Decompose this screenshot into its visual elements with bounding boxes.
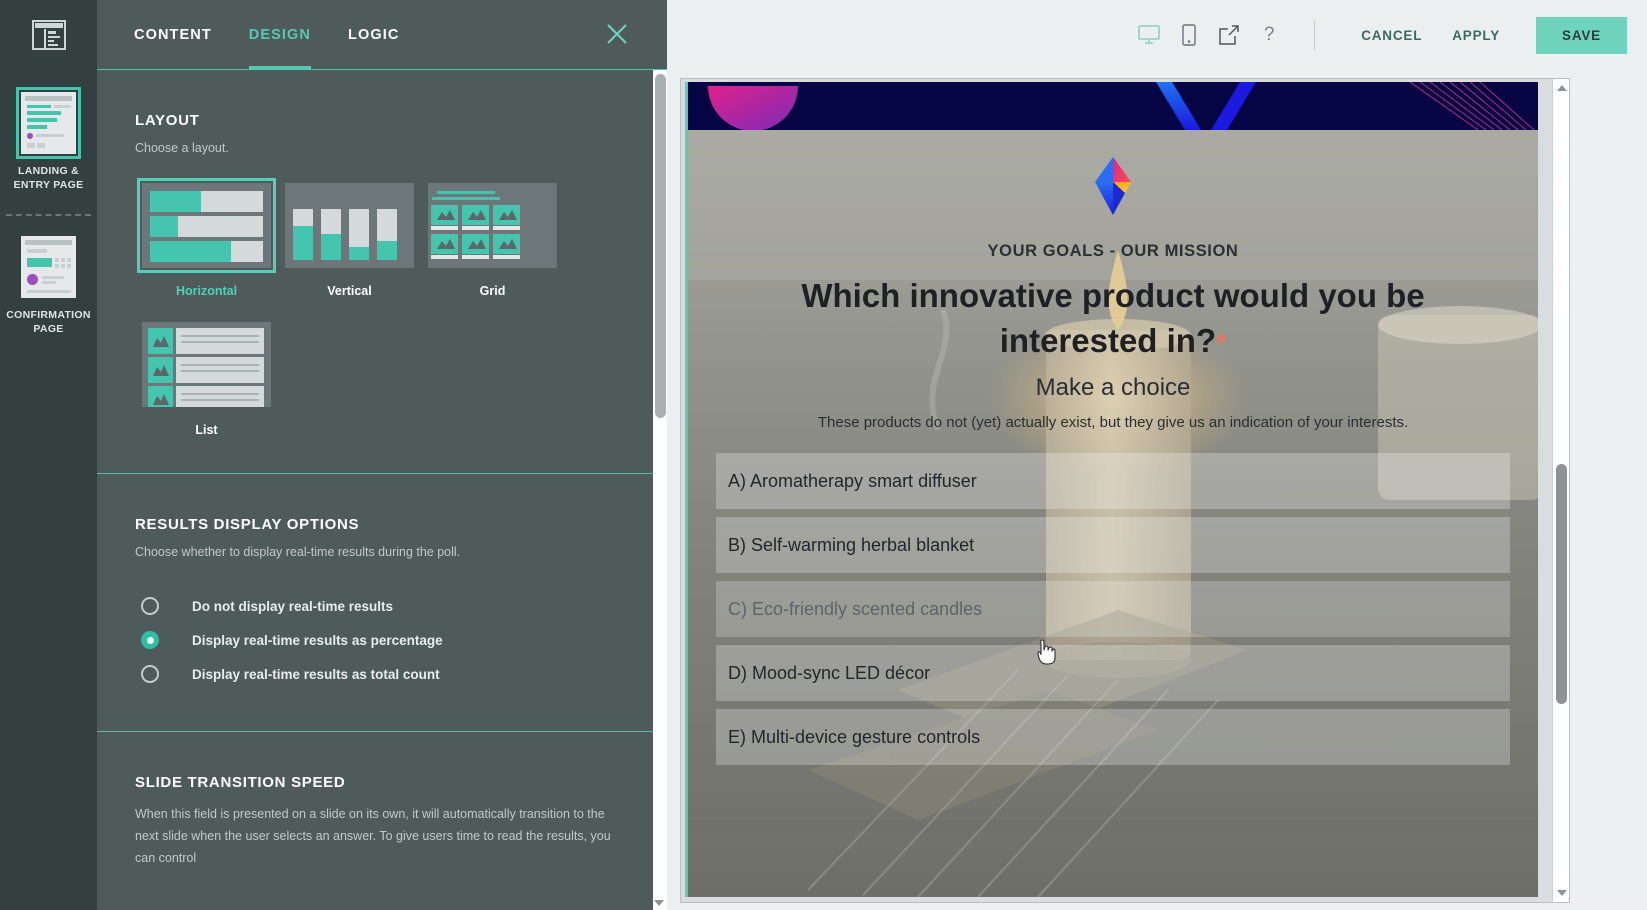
answer-option-label: A) Aromatherapy smart diffuser bbox=[728, 471, 977, 492]
sidebar-item-label: LANDING & ENTRY PAGE bbox=[0, 164, 97, 192]
tab-list: CONTENT DESIGN LOGIC bbox=[97, 0, 399, 70]
radio-option-total-count[interactable]: Display real-time results as total count bbox=[135, 657, 629, 691]
settings-panel: CONTENT DESIGN LOGIC LAYOUT Choose a lay… bbox=[97, 0, 667, 910]
document-layout-icon[interactable] bbox=[32, 20, 66, 50]
help-question-icon[interactable]: ? bbox=[1252, 18, 1286, 52]
question-description: These products do not (yet) actually exi… bbox=[688, 414, 1538, 431]
panel-content: LAYOUT Choose a layout. Horizontal bbox=[97, 70, 667, 910]
layout-options: Horizontal Vertical bbox=[135, 183, 629, 437]
layout-option-label: Horizontal bbox=[135, 284, 278, 298]
answer-option-e[interactable]: E) Multi-device gesture controls bbox=[716, 709, 1510, 765]
question-instruction: Make a choice bbox=[688, 374, 1538, 402]
layout-option-label: Grid bbox=[421, 284, 564, 298]
mobile-preview-icon[interactable] bbox=[1172, 18, 1206, 52]
tab-design[interactable]: DESIGN bbox=[249, 0, 311, 70]
confirmation-page-thumbnail bbox=[21, 236, 76, 298]
top-toolbar: ? CANCEL APPLY SAVE bbox=[667, 0, 1647, 70]
close-icon[interactable] bbox=[605, 22, 629, 46]
preview-area: ? CANCEL APPLY SAVE bbox=[667, 0, 1647, 910]
cancel-button[interactable]: CANCEL bbox=[1355, 28, 1428, 43]
slide-eyebrow: YOUR GOALS - OUR MISSION bbox=[688, 242, 1538, 261]
answer-option-c[interactable]: C) Eco-friendly scented candles bbox=[716, 581, 1510, 637]
horizontal-layout-thumbnail bbox=[142, 183, 271, 268]
answer-option-label: B) Self-warming herbal blanket bbox=[728, 535, 974, 556]
scroll-down-arrow-icon[interactable] bbox=[1557, 890, 1567, 896]
answer-option-label: D) Mood-sync LED décor bbox=[728, 663, 930, 684]
slide-content: YOUR GOALS - OUR MISSION Which innovativ… bbox=[688, 130, 1538, 897]
list-layout-thumbnail bbox=[142, 322, 271, 407]
answer-option-label: C) Eco-friendly scented candles bbox=[728, 599, 982, 620]
sidebar-item-label: CONFIRMATION PAGE bbox=[0, 308, 97, 336]
radio-icon[interactable] bbox=[141, 597, 159, 615]
radio-option-percentage[interactable]: Display real-time results as percentage bbox=[135, 623, 629, 657]
answer-option-a[interactable]: A) Aromatherapy smart diffuser bbox=[716, 453, 1510, 509]
panel-scrollbar-thumb[interactable] bbox=[655, 74, 666, 418]
answer-option-d[interactable]: D) Mood-sync LED décor bbox=[716, 645, 1510, 701]
vertical-layout-thumbnail bbox=[285, 183, 414, 268]
panel-tabbar: CONTENT DESIGN LOGIC bbox=[97, 0, 667, 70]
radio-icon[interactable] bbox=[141, 665, 159, 683]
radio-icon-selected[interactable] bbox=[141, 631, 159, 649]
brand-banner bbox=[688, 82, 1538, 130]
scroll-up-arrow-icon[interactable] bbox=[1557, 85, 1567, 91]
open-external-icon[interactable] bbox=[1212, 18, 1246, 52]
answer-option-b[interactable]: B) Self-warming herbal blanket bbox=[716, 517, 1510, 573]
layout-option-label: List bbox=[135, 423, 278, 437]
poll-slide: YOUR GOALS - OUR MISSION Which innovativ… bbox=[685, 82, 1538, 897]
preview-scrollbar-thumb[interactable] bbox=[1556, 464, 1567, 704]
required-asterisk: * bbox=[1216, 328, 1226, 358]
results-section-title: RESULTS DISPLAY OPTIONS bbox=[135, 516, 629, 533]
tab-content[interactable]: CONTENT bbox=[134, 0, 212, 70]
layout-section-title: LAYOUT bbox=[135, 112, 629, 129]
layout-option-list[interactable]: List bbox=[135, 322, 278, 437]
app-root: LANDING & ENTRY PAGE bbox=[0, 0, 1647, 910]
answer-option-label: E) Multi-device gesture controls bbox=[728, 727, 980, 748]
apply-button[interactable]: APPLY bbox=[1446, 28, 1506, 43]
results-display-section: RESULTS DISPLAY OPTIONS Choose whether t… bbox=[97, 474, 667, 731]
question-title: Which innovative product would you be in… bbox=[688, 273, 1538, 366]
layout-option-label: Vertical bbox=[278, 284, 421, 298]
radio-label: Display real-time results as total count bbox=[192, 667, 440, 682]
transition-section-title: SLIDE TRANSITION SPEED bbox=[135, 774, 629, 791]
scroll-down-arrow-icon[interactable] bbox=[654, 900, 664, 906]
radio-label: Do not display real-time results bbox=[192, 599, 393, 614]
layout-option-grid[interactable]: Grid bbox=[421, 183, 564, 298]
save-button[interactable]: SAVE bbox=[1536, 17, 1627, 54]
layout-section: LAYOUT Choose a layout. Horizontal bbox=[97, 70, 667, 473]
question-text: Which innovative product would you be in… bbox=[801, 277, 1424, 359]
tab-logic[interactable]: LOGIC bbox=[348, 0, 399, 70]
rail-header bbox=[0, 0, 97, 70]
transition-section-subtitle: When this field is presented on a slide … bbox=[135, 803, 629, 869]
landing-page-thumbnail bbox=[21, 92, 76, 154]
brand-diamond-logo bbox=[688, 130, 1538, 222]
desktop-preview-icon[interactable] bbox=[1132, 18, 1166, 52]
rail-item-list: LANDING & ENTRY PAGE bbox=[0, 70, 97, 354]
rail-divider bbox=[6, 214, 91, 216]
slide-transition-section: SLIDE TRANSITION SPEED When this field i… bbox=[97, 732, 667, 869]
preview-frame: YOUR GOALS - OUR MISSION Which innovativ… bbox=[680, 78, 1570, 903]
answer-option-list: A) Aromatherapy smart diffuser B) Self-w… bbox=[688, 453, 1538, 765]
grid-layout-thumbnail bbox=[428, 183, 557, 268]
results-radio-group: Do not display real-time results Display… bbox=[135, 589, 629, 691]
radio-label: Display real-time results as percentage bbox=[192, 633, 443, 648]
layout-section-subtitle: Choose a layout. bbox=[135, 141, 629, 155]
layout-option-horizontal[interactable]: Horizontal bbox=[135, 183, 278, 298]
preview-scrollbar[interactable] bbox=[1552, 79, 1569, 902]
sidebar-item-landing-entry-page[interactable]: LANDING & ENTRY PAGE bbox=[0, 92, 97, 210]
panel-scrollbar[interactable] bbox=[653, 70, 667, 910]
layout-option-vertical[interactable]: Vertical bbox=[278, 183, 421, 298]
sidebar-item-confirmation-page[interactable]: CONFIRMATION PAGE bbox=[0, 236, 97, 354]
toolbar-divider bbox=[1314, 20, 1315, 50]
radio-option-no-results[interactable]: Do not display real-time results bbox=[135, 589, 629, 623]
results-section-subtitle: Choose whether to display real-time resu… bbox=[135, 545, 629, 559]
page-rail: LANDING & ENTRY PAGE bbox=[0, 0, 97, 910]
